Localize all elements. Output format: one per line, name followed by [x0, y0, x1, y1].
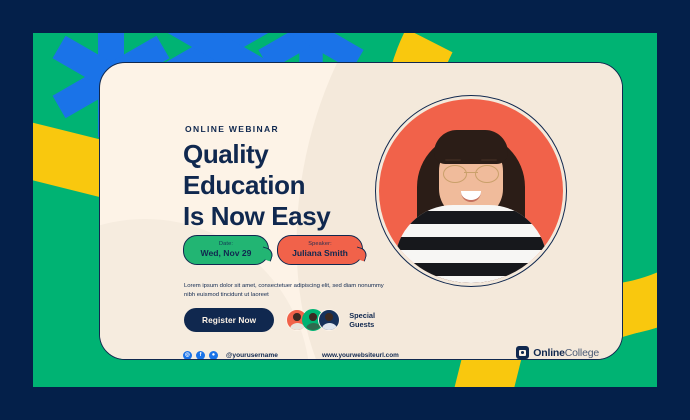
brand-name-bold: Online	[533, 347, 564, 359]
date-badge: Date: Wed, Nov 29	[183, 235, 269, 265]
artboard-background: ONLINE WEBINAR Quality Education Is Now …	[33, 33, 657, 387]
website-url[interactable]: www.yourwebsiteurl.com	[322, 352, 399, 359]
instagram-icon[interactable]: ◎	[183, 351, 192, 360]
special-guests-line-2: Guests	[349, 320, 375, 329]
speaker-badge-value: Juliana Smith	[289, 248, 351, 258]
special-guests-line-1: Special	[349, 311, 375, 320]
facebook-icon[interactable]: f	[196, 351, 205, 360]
social-links: ◎ f ● @yourusername	[183, 351, 278, 360]
portrait-striped-top	[395, 205, 547, 283]
guest-avatars	[286, 309, 340, 331]
social-handle: @yourusername	[226, 352, 278, 359]
special-guests-label: Special Guests	[349, 311, 375, 329]
info-badges: Date: Wed, Nov 29 Speaker: Juliana Smith	[183, 235, 363, 265]
brand-logo-text: OnlineCollege	[533, 347, 599, 359]
speaker-badge: Speaker: Juliana Smith	[277, 235, 363, 265]
speaker-badge-label: Speaker:	[289, 241, 351, 247]
content-card: ONLINE WEBINAR Quality Education Is Now …	[99, 62, 623, 360]
book-icon	[516, 346, 529, 359]
brand-logo: OnlineCollege	[516, 346, 599, 359]
date-badge-label: Date:	[195, 241, 257, 247]
eyebrow-label: ONLINE WEBINAR	[185, 124, 279, 134]
date-badge-value: Wed, Nov 29	[195, 248, 257, 258]
twitter-icon[interactable]: ●	[209, 351, 218, 360]
cta-row: Register Now Special Guests	[184, 308, 375, 332]
banner-stage: ONLINE WEBINAR Quality Education Is Now …	[0, 0, 690, 420]
glasses-icon	[443, 165, 499, 181]
portrait-image	[379, 99, 563, 283]
speaker-portrait	[375, 95, 567, 287]
register-now-button[interactable]: Register Now	[184, 308, 274, 332]
body-copy: Lorem ipsum dolor sit amet, consectetuer…	[184, 282, 389, 301]
brand-name-light: College	[565, 347, 599, 359]
avatar	[318, 309, 340, 331]
